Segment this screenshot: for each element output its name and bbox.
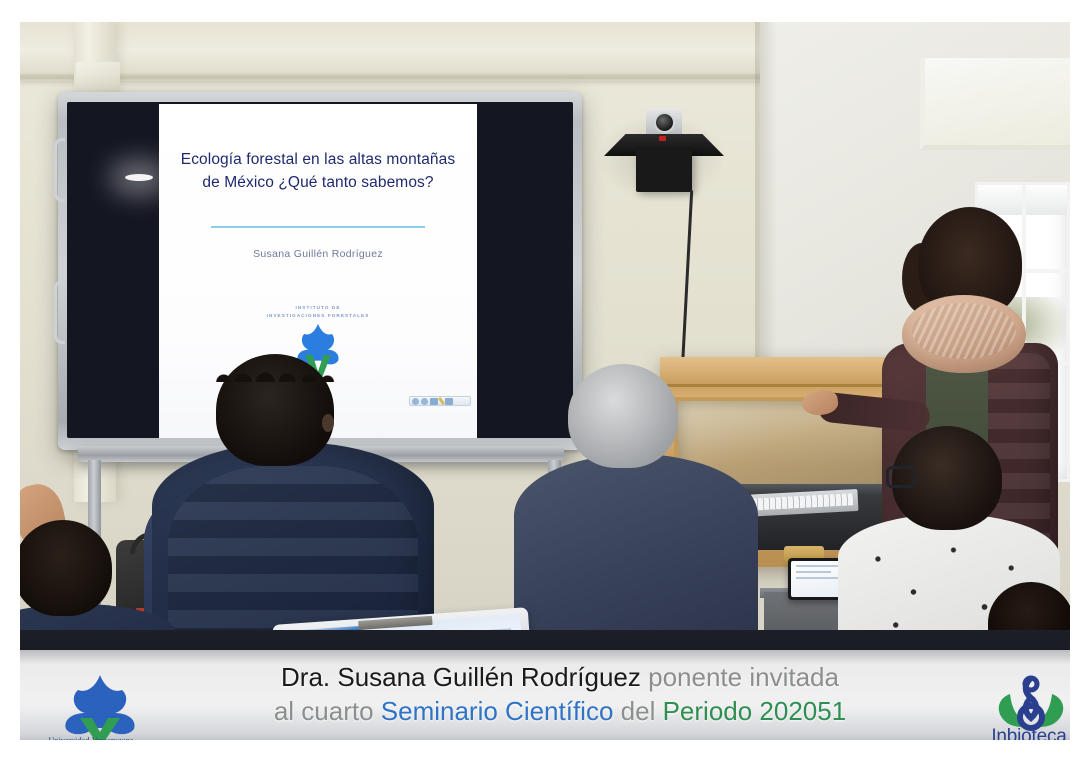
audience-glasses-icon <box>886 466 916 488</box>
tablet-text-line <box>796 565 844 567</box>
display-handle-upper[interactable] <box>54 138 65 202</box>
event-photograph: Ecología forestal en las altas montañas … <box>20 22 1070 740</box>
inbioteca-label: Inbioteca <box>968 726 1070 740</box>
slide-title-line-2: de México ¿Qué tanto sabemos? <box>202 174 433 191</box>
poster-page: Ecología forestal en las altas montañas … <box>0 0 1090 760</box>
uv-logo-svg <box>44 672 156 740</box>
caption-ordinal: al cuarto <box>274 696 381 726</box>
audience-member-left-head <box>20 520 112 616</box>
inbioteca-logo-icon <box>982 674 1070 734</box>
slide-divider <box>211 226 425 228</box>
caption-speaker-role: ponente invitada <box>641 662 839 692</box>
caption-speaker-name: Dra. Susana Guillén Rodríguez <box>281 662 641 692</box>
camera-lens-icon <box>654 112 675 133</box>
screen-light-reflection <box>125 174 153 181</box>
tablet-text-line <box>796 571 831 573</box>
tablet-text-line <box>796 577 841 579</box>
universidad-veracruzana-label: Universidad Veracruzana <box>30 736 152 740</box>
slide-title-line-1: Ecología forestal en las altas montañas <box>181 151 455 168</box>
caption-connector: del <box>613 696 662 726</box>
universidad-veracruzana-logo-icon <box>44 672 156 740</box>
display-handle-lower[interactable] <box>54 280 65 344</box>
caption-line-2: al cuarto Seminario Científico del Perio… <box>170 694 950 728</box>
caption-text: Dra. Susana Guillén Rodríguez ponente in… <box>170 660 950 729</box>
caption-event-name: Seminario Científico <box>381 696 614 726</box>
camera-status-led <box>659 136 666 141</box>
slide-author: Susana Guillén Rodríguez <box>159 248 477 260</box>
caption-line-1: Dra. Susana Guillén Rodríguez ponente in… <box>170 660 950 694</box>
presenter-scarf <box>902 295 1026 373</box>
upper-window <box>920 58 1070 150</box>
toolbar-pen-icon[interactable] <box>438 397 445 405</box>
toolbar-navigate-icon[interactable] <box>421 398 428 405</box>
slide-institute-line-2: INVESTIGACIONES FORESTALES <box>267 313 370 318</box>
caption-banner: Dra. Susana Guillén Rodríguez ponente in… <box>20 650 1070 740</box>
audience-member-center-hair <box>214 348 336 382</box>
camera-wall-mount <box>636 150 692 192</box>
caption-period: Periodo 202051 <box>663 696 847 726</box>
toolbar-slide-icon[interactable] <box>430 398 438 405</box>
toolbar-pointer-icon[interactable] <box>412 398 419 405</box>
wall-pillar-cap <box>76 62 120 94</box>
audience-member-center-ear <box>322 414 334 432</box>
audience-member-grey-head <box>568 364 678 468</box>
slide-institute-name: INSTITUTO DE INVESTIGACIONES FORESTALES <box>159 304 477 319</box>
toolbar-menu-icon[interactable] <box>445 398 453 405</box>
slide-institute-line-1: INSTITUTO DE <box>295 305 340 310</box>
slide-title: Ecología forestal en las altas montañas … <box>167 148 469 195</box>
presenter-toolbar[interactable] <box>409 396 471 406</box>
inbioteca-logo-svg <box>982 674 1070 734</box>
